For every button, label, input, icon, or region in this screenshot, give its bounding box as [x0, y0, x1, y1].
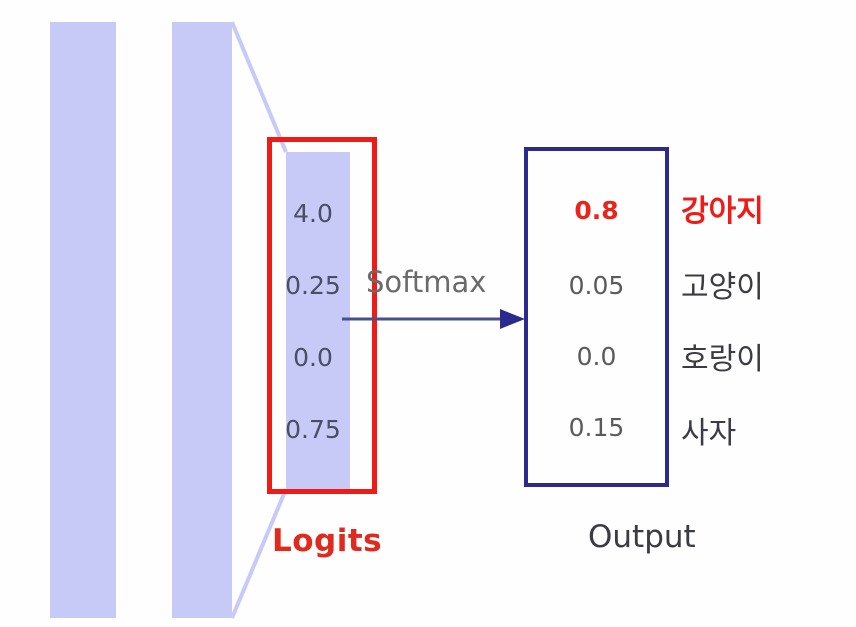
feature-map-bar-left	[50, 22, 116, 618]
softmax-arrow-icon	[340, 305, 530, 333]
output-label-2: 호랑이	[681, 334, 764, 378]
output-label-0: 강아지	[681, 186, 764, 230]
output-label-1: 고양이	[681, 262, 764, 306]
logits-caption: Logits	[272, 523, 382, 559]
output-label-3: 사자	[681, 408, 736, 452]
output-value-2: 0.0	[524, 342, 669, 371]
feature-map-bar-right	[172, 22, 232, 618]
softmax-label: Softmax	[366, 265, 486, 299]
output-value-1: 0.05	[524, 271, 669, 300]
logit-value-2: 0.0	[267, 343, 359, 372]
output-caption: Output	[588, 519, 696, 555]
diagram-canvas: 4.0 0.25 0.0 0.75 Logits Softmax 0.8 0.0…	[0, 0, 856, 627]
logit-value-0: 4.0	[267, 199, 359, 228]
output-value-3: 0.15	[524, 413, 669, 442]
output-value-0: 0.8	[524, 196, 669, 225]
logit-value-1: 0.25	[267, 271, 359, 300]
logit-value-3: 0.75	[267, 415, 359, 444]
